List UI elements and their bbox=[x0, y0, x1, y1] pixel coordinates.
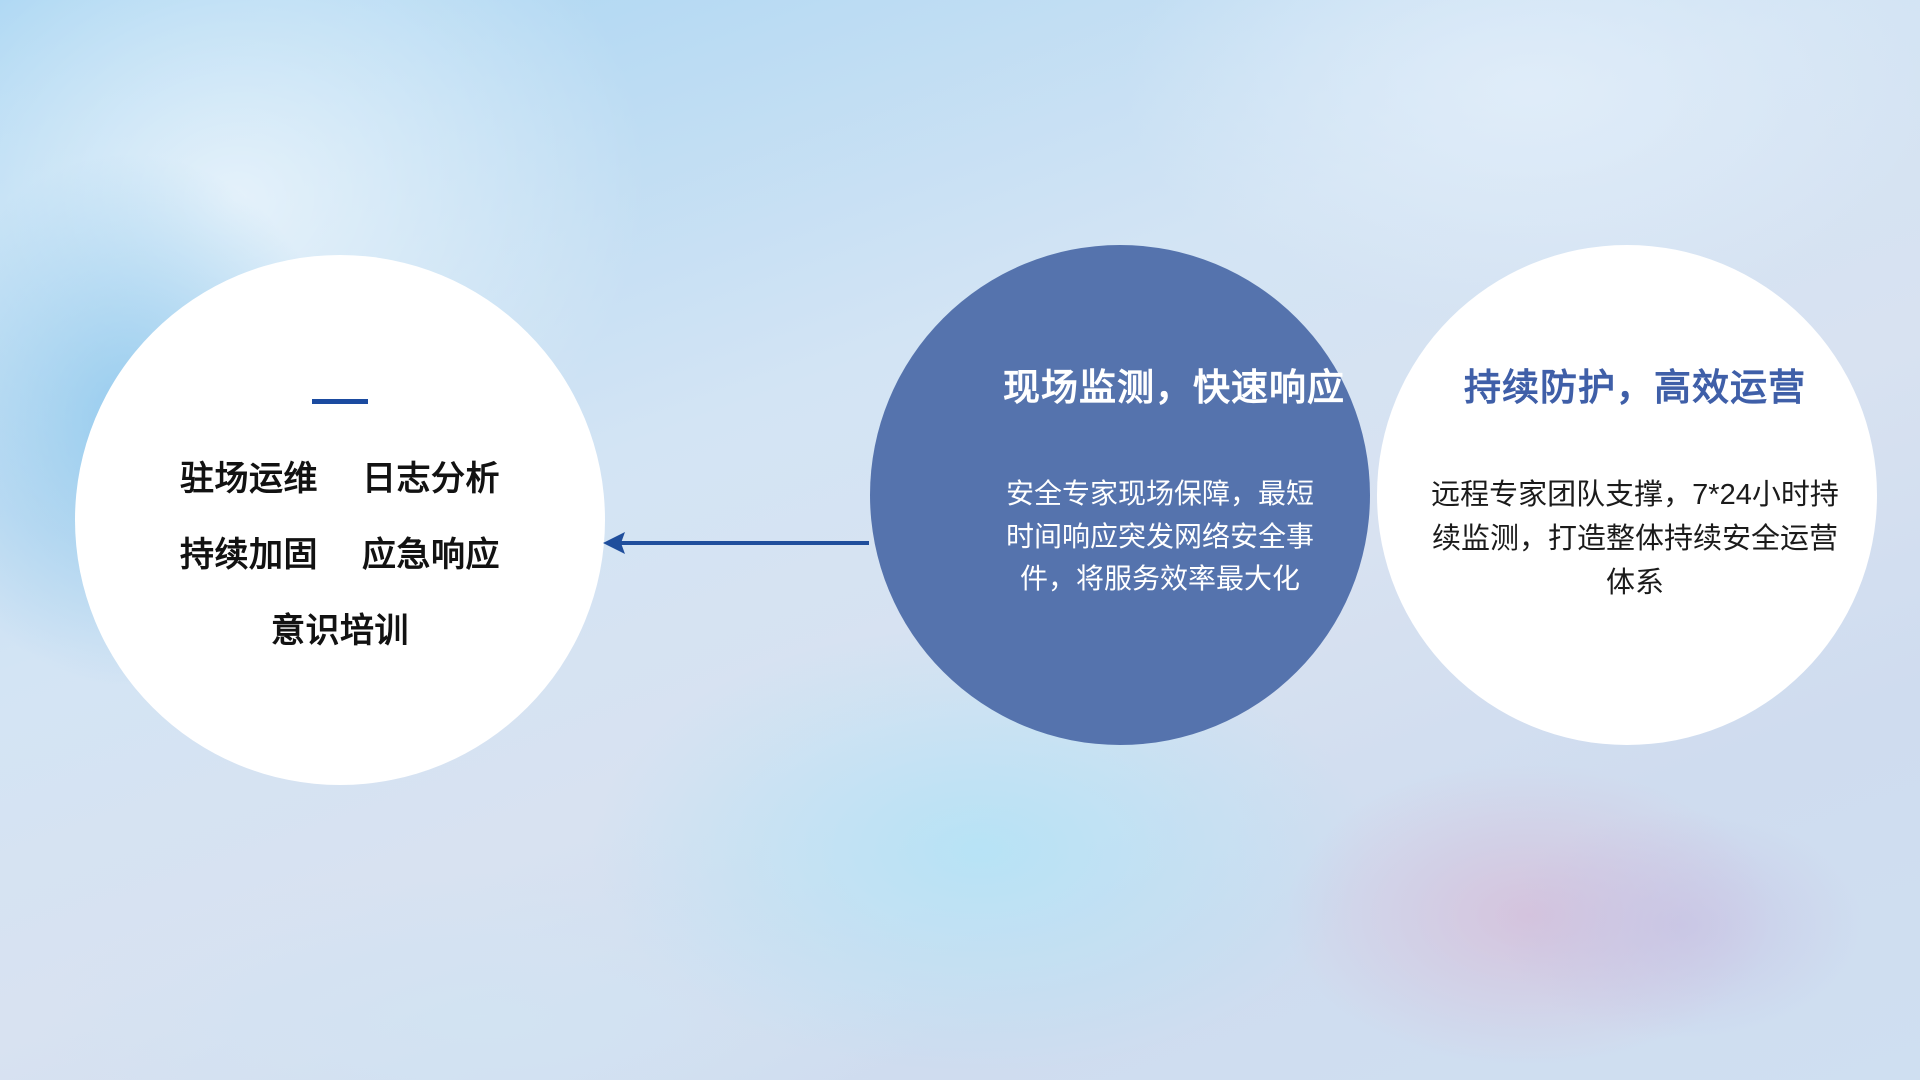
onsite-monitoring-circle[interactable]: 现场监测，快速响应 安全专家现场保障，最短时间响应突发网络安全事件，将服务效率最… bbox=[870, 245, 1370, 745]
divider-dash-icon bbox=[312, 399, 368, 404]
keyword-item: 持续加固 bbox=[180, 538, 318, 572]
continuous-protection-circle[interactable]: 持续防护，高效运营 远程专家团队支撑，7*24小时持续监测，打造整体持续安全运营… bbox=[1377, 245, 1877, 745]
keyword-row: 驻场运维 日志分析 bbox=[180, 462, 500, 496]
capabilities-content: 驻场运维 日志分析 持续加固 应急响应 意识培训 bbox=[75, 255, 605, 785]
keyword-item: 应急响应 bbox=[362, 538, 500, 572]
continuous-protection-body: 远程专家团队支撑，7*24小时持续监测，打造整体持续安全运营体系 bbox=[1425, 473, 1845, 605]
keyword-row: 意识培训 bbox=[271, 614, 409, 648]
keyword-item: 驻场运维 bbox=[180, 462, 318, 496]
keyword-item: 意识培训 bbox=[271, 614, 409, 648]
capabilities-circle[interactable]: 驻场运维 日志分析 持续加固 应急响应 意识培训 bbox=[75, 255, 605, 785]
slide-canvas: 现场监测，快速响应 安全专家现场保障，最短时间响应突发网络安全事件，将服务效率最… bbox=[0, 0, 1920, 1080]
keyword-row: 持续加固 应急响应 bbox=[180, 538, 500, 572]
continuous-protection-title: 持续防护，高效运营 bbox=[1464, 357, 1806, 411]
onsite-monitoring-title: 现场监测，快速响应 bbox=[1003, 357, 1345, 411]
background-glow-lavender bbox=[1420, 760, 1920, 1080]
keyword-item: 日志分析 bbox=[362, 462, 500, 496]
onsite-monitoring-body: 安全专家现场保障，最短时间响应突发网络安全事件，将服务效率最大化 bbox=[995, 473, 1325, 601]
onsite-monitoring-content: 现场监测，快速响应 安全专家现场保障，最短时间响应突发网络安全事件，将服务效率最… bbox=[870, 245, 1370, 745]
continuous-protection-content: 持续防护，高效运营 远程专家团队支撑，7*24小时持续监测，打造整体持续安全运营… bbox=[1377, 245, 1877, 745]
flow-arrow-left-icon bbox=[595, 515, 875, 571]
